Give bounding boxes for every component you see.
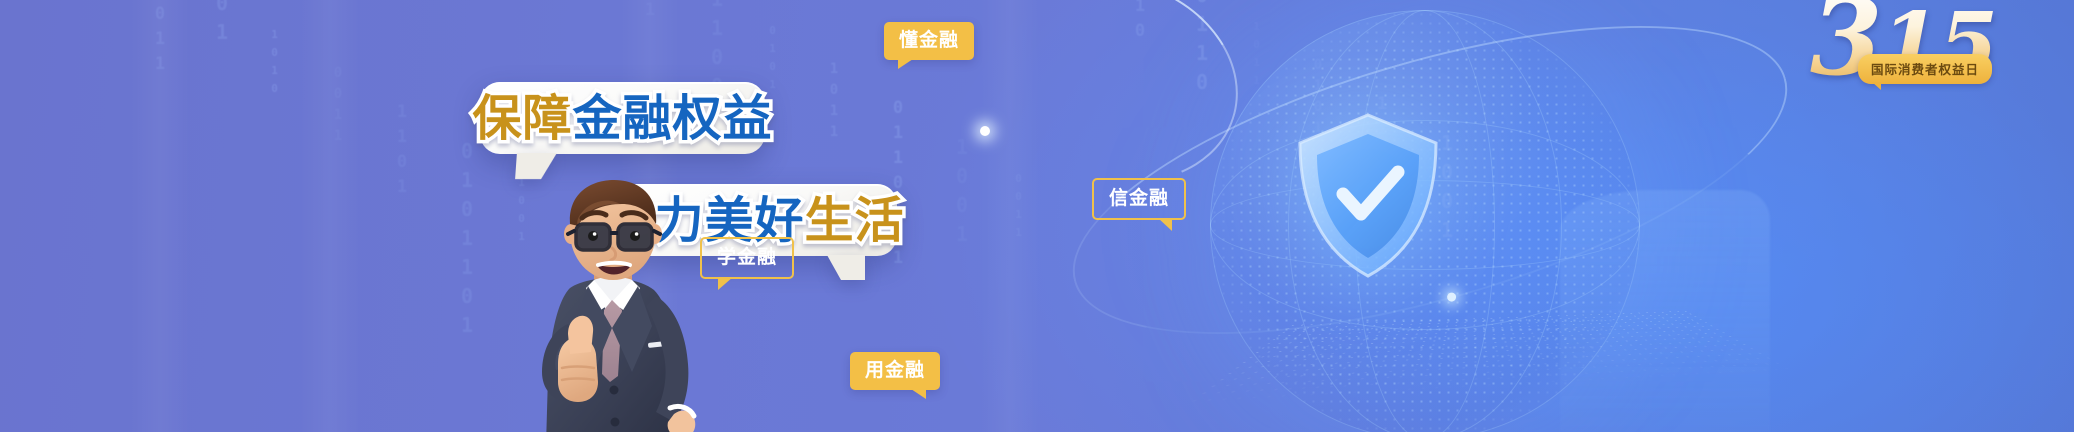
light-streak	[130, 0, 190, 432]
binary-column: 0110	[1190, 0, 1214, 99]
comet-head	[980, 126, 990, 136]
light-streak	[980, 0, 1040, 432]
consumer-rights-day-badge: 国际消费者权益日	[1858, 54, 1992, 84]
dot-grid-plane	[1116, 310, 1862, 432]
binary-column: 1001	[950, 135, 974, 251]
headline-plaque-line1: 保障金融权益	[480, 82, 765, 154]
binary-column: 1011001	[40, 0, 53, 6]
binary-column: 1101	[392, 102, 412, 202]
tag-yong-jinrong[interactable]: 用金融	[850, 352, 940, 390]
businessman-thumbs-up-icon	[498, 176, 718, 432]
decorative-slab	[1560, 190, 1770, 432]
binary-column: 10011	[150, 0, 170, 79]
binary-column: 0110	[88, 0, 104, 1]
binary-code-background: 1011001011010011011010001111010101101100…	[0, 0, 2074, 432]
binary-column: 1010	[268, 28, 281, 100]
headline-line1: 保障金融权益	[472, 94, 772, 143]
tag-dong-jinrong[interactable]: 懂金融	[884, 22, 974, 60]
shield-check-icon	[1288, 110, 1448, 280]
binary-column: 1011	[1250, 20, 1263, 92]
binary-column: 101	[640, 0, 660, 25]
light-streak	[300, 0, 360, 432]
binary-column: 1010	[1130, 0, 1150, 46]
logo-digit-3: 3	[1810, 0, 1880, 99]
tag-xin-jinrong[interactable]: 信金融	[1092, 178, 1186, 220]
binary-column: 1011	[826, 61, 842, 145]
globe-network-icon	[1140, 0, 1760, 432]
banner-root: 1011001011010011011010001111010101101100…	[0, 0, 2074, 432]
headline-line1-gold: 保障	[472, 90, 572, 147]
binary-column: 0101101	[455, 139, 479, 342]
315-logo: 315 国际消费者权益日	[1810, 0, 2060, 103]
headline-line2-gold: 生活	[805, 192, 905, 249]
binary-column: 01	[210, 0, 234, 49]
headline-line1-blue: 金融权益	[573, 90, 773, 147]
binary-column: 0101	[766, 24, 779, 96]
binary-column: 0011	[1012, 172, 1025, 244]
binary-column: 0011	[330, 65, 346, 149]
